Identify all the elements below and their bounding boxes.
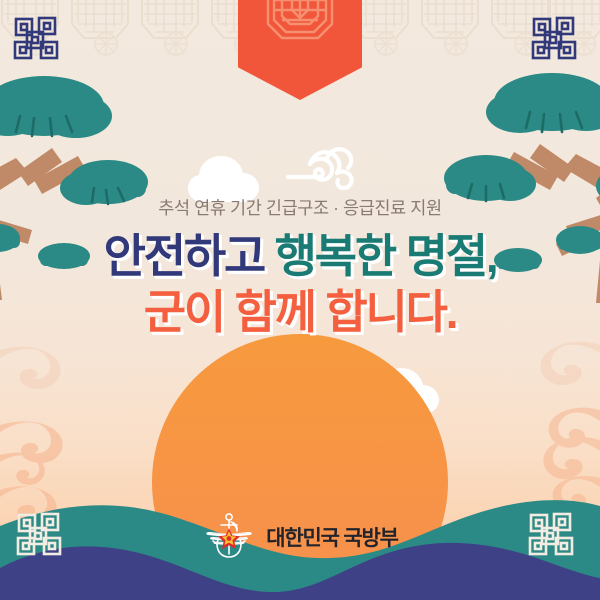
headline-segment-navy: 안전하고 xyxy=(104,230,264,282)
footer-organization-label: 대한민국 국방부 xyxy=(266,522,397,552)
poster-copy: 추석 연휴 기간 긴급구조 · 응급진료 지원 안전하고 행복한 명절, 군이 … xyxy=(0,196,600,340)
poster-subtitle: 추석 연휴 기간 긴급구조 · 응급진료 지원 xyxy=(0,196,600,221)
footer-logo: 대한민국 국방부 xyxy=(0,510,600,564)
poster-headline-line2: 군이 함께 합니다. xyxy=(0,285,600,340)
korean-geometric-ornament-icon xyxy=(531,16,587,68)
poster-headline-line1: 안전하고 행복한 명절, xyxy=(0,229,600,284)
korean-geometric-ornament-icon xyxy=(13,16,69,68)
mnd-emblem-icon xyxy=(202,510,256,564)
poster-card: 추석 연휴 기간 긴급구조 · 응급진료 지원 안전하고 행복한 명절, 군이 … xyxy=(0,0,600,600)
headline-segment-teal: 행복한 명절, xyxy=(275,230,497,282)
